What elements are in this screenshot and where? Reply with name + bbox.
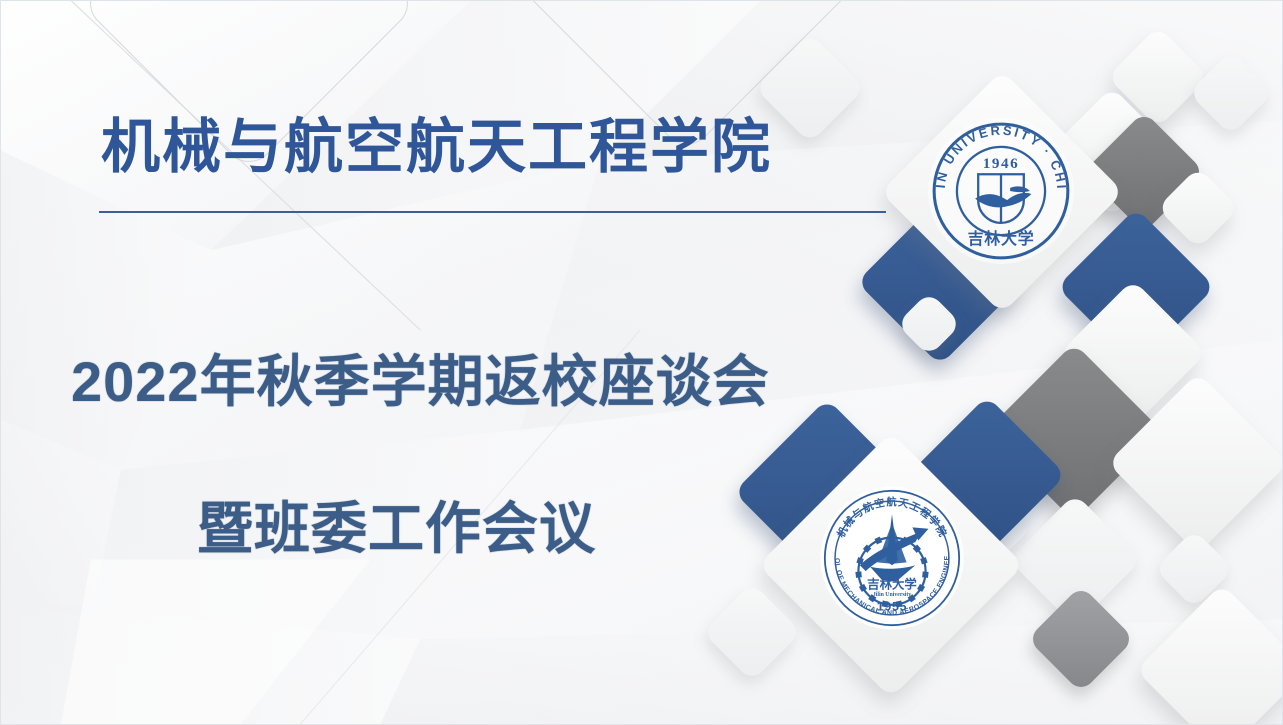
page-title: 机械与航空航天工程学院 bbox=[101, 117, 772, 179]
slide-subtitle-line-2: 暨班委工作会议 bbox=[197, 484, 596, 565]
title-divider bbox=[99, 211, 886, 213]
slide-subtitle-line-1: 2022年秋季学期返校座谈会 bbox=[71, 337, 770, 418]
jilin-university-seal: JILIN UNIVERSITY · CHINA 1946 吉林大学 bbox=[925, 115, 1077, 267]
presentation-slide: JILIN UNIVERSITY · CHINA 1946 吉林大学 机械与航空… bbox=[0, 0, 1283, 725]
svg-text:吉林大学: 吉林大学 bbox=[968, 229, 1035, 248]
slide-text-block: 机械与航空航天工程学院 2022年秋季学期返校座谈会 暨班委工作会议 bbox=[1, 1, 921, 725]
svg-text:1946: 1946 bbox=[983, 155, 1019, 172]
